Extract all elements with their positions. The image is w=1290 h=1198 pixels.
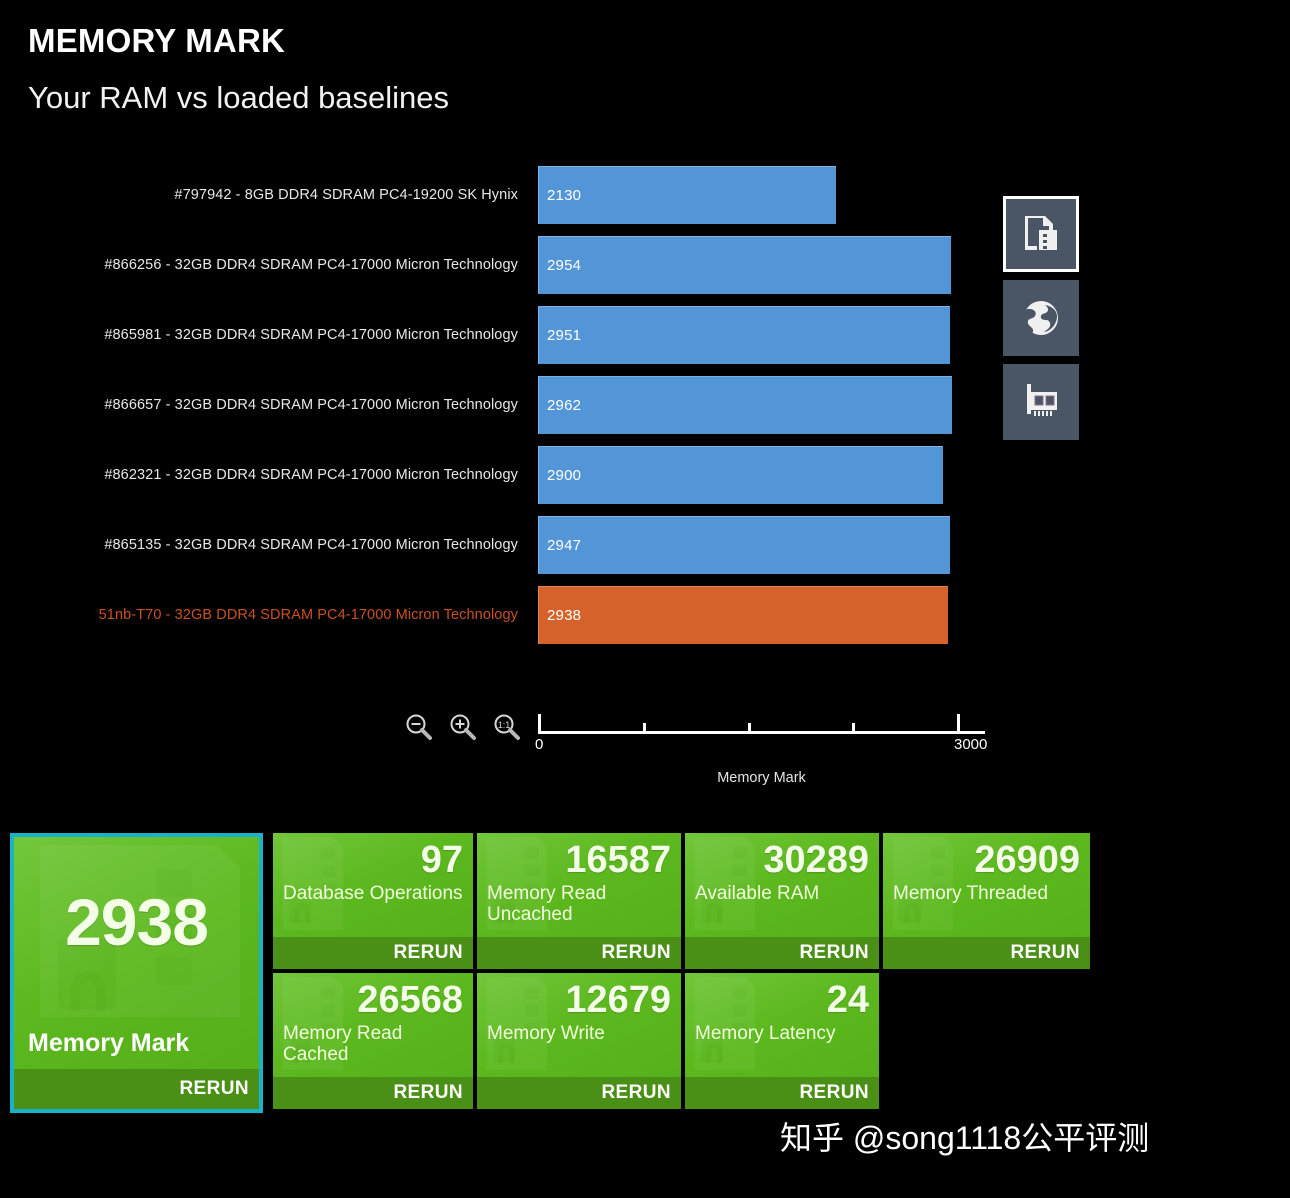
tile-memory-latency[interactable]: 24Memory LatencyRERUN <box>685 973 879 1109</box>
chart-row-label: #866256 - 32GB DDR4 SDRAM PC4-17000 Micr… <box>0 230 518 300</box>
chart-bar[interactable]: 2947 <box>538 516 950 574</box>
tile-label: Memory Read Uncached <box>487 883 671 926</box>
chart-row-label: #865981 - 32GB DDR4 SDRAM PC4-17000 Micr… <box>0 300 518 370</box>
axis-tick <box>852 723 855 732</box>
tile-memory-write[interactable]: 12679Memory WriteRERUN <box>477 973 681 1109</box>
axis-tick <box>748 723 751 732</box>
chart-row-label: 51nb-T70 - 32GB DDR4 SDRAM PC4-17000 Mic… <box>0 580 518 650</box>
tile-value: 24 <box>827 981 869 1019</box>
chart-zoom-controls: 1:1 <box>404 712 522 742</box>
baseline-document-icon[interactable] <box>1003 196 1079 272</box>
tile-value: 26568 <box>357 981 463 1019</box>
page-title: MEMORY MARK <box>28 22 285 60</box>
chart-row[interactable]: 51nb-T70 - 32GB DDR4 SDRAM PC4-17000 Mic… <box>0 580 990 650</box>
chart-row[interactable]: #865135 - 32GB DDR4 SDRAM PC4-17000 Micr… <box>0 510 990 580</box>
tile-label: Database Operations <box>283 883 463 904</box>
author-watermark: 知乎 @song1118公平评测 <box>780 1113 1149 1159</box>
hardware-card-icon[interactable] <box>1003 364 1079 440</box>
tile-label: Memory Write <box>487 1023 671 1044</box>
rerun-button[interactable]: RERUN <box>14 1069 259 1109</box>
axis-title: Memory Mark <box>538 770 985 786</box>
axis-tick <box>538 714 541 732</box>
tile-value: 12679 <box>565 981 671 1019</box>
tile-memory-read-cached[interactable]: 26568Memory Read CachedRERUN <box>273 973 473 1109</box>
chart-row-label: #862321 - 32GB DDR4 SDRAM PC4-17000 Micr… <box>0 440 518 510</box>
tile-memory-threaded[interactable]: 26909Memory ThreadedRERUN <box>883 833 1090 969</box>
rerun-button[interactable]: RERUN <box>273 937 473 969</box>
chart-row-label: #865135 - 32GB DDR4 SDRAM PC4-17000 Micr… <box>0 510 518 580</box>
tile-value: 2938 <box>14 889 259 955</box>
rerun-button[interactable]: RERUN <box>685 937 879 969</box>
axis-tick <box>643 723 646 732</box>
chart-bar[interactable]: 2951 <box>538 306 950 364</box>
chart-bar[interactable]: 2130 <box>538 166 836 224</box>
axis-tick-label: 0 <box>535 736 543 753</box>
rerun-button[interactable]: RERUN <box>477 1077 681 1109</box>
tile-label: Memory Threaded <box>893 883 1080 904</box>
globe-icon[interactable] <box>1003 280 1079 356</box>
score-tiles: 2938 Memory Mark RERUN 97Database Operat… <box>10 833 1090 1113</box>
tile-value: 30289 <box>763 841 869 879</box>
chart-row-label: #797942 - 8GB DDR4 SDRAM PC4-19200 SK Hy… <box>0 160 518 230</box>
chart-row[interactable]: #866256 - 32GB DDR4 SDRAM PC4-17000 Micr… <box>0 230 990 300</box>
rerun-button[interactable]: RERUN <box>883 937 1090 969</box>
chart-row[interactable]: #797942 - 8GB DDR4 SDRAM PC4-19200 SK Hy… <box>0 160 990 230</box>
chart-bar-value: 2951 <box>547 327 581 344</box>
chart-side-toolbar <box>1003 196 1079 448</box>
axis-tick-label: 3000 <box>954 736 987 753</box>
chart-bar-value: 2900 <box>547 467 581 484</box>
rerun-button[interactable]: RERUN <box>273 1077 473 1109</box>
chart-bar-value: 2962 <box>547 397 581 414</box>
tile-label: Memory Latency <box>695 1023 869 1044</box>
axis-line <box>538 731 985 734</box>
chart-bar-value: 2947 <box>547 537 581 554</box>
tile-label: Memory Read Cached <box>283 1023 463 1066</box>
tile-database-operations[interactable]: 97Database OperationsRERUN <box>273 833 473 969</box>
axis-tick <box>957 714 960 732</box>
page-subtitle: Your RAM vs loaded baselines <box>28 80 449 116</box>
chart-row[interactable]: #862321 - 32GB DDR4 SDRAM PC4-17000 Micr… <box>0 440 990 510</box>
chart-bar-value: 2954 <box>547 257 581 274</box>
tile-value: 16587 <box>565 841 671 879</box>
chart-row[interactable]: #865981 - 32GB DDR4 SDRAM PC4-17000 Micr… <box>0 300 990 370</box>
chart-bar[interactable]: 2962 <box>538 376 952 434</box>
chart-bar[interactable]: 2900 <box>538 446 943 504</box>
chart-bar-value: 2130 <box>547 187 581 204</box>
chart-axis: 1:1 03000 Memory Mark <box>0 700 1290 800</box>
chart-row-label: #866657 - 32GB DDR4 SDRAM PC4-17000 Micr… <box>0 370 518 440</box>
tile-label: Memory Mark <box>28 1029 189 1057</box>
chart-bar[interactable]: 2954 <box>538 236 951 294</box>
chart-bar-value: 2938 <box>547 607 581 624</box>
tile-label: Available RAM <box>695 883 869 904</box>
rerun-button[interactable]: RERUN <box>477 937 681 969</box>
zoom-reset-icon[interactable]: 1:1 <box>492 712 522 742</box>
tile-available-ram[interactable]: 30289Available RAMRERUN <box>685 833 879 969</box>
tile-value: 97 <box>421 841 463 879</box>
chart-bar[interactable]: 2938 <box>538 586 948 644</box>
memory-mark-screen: MEMORY MARK Your RAM vs loaded baselines… <box>0 0 1290 1198</box>
svg-text:1:1: 1:1 <box>498 720 511 730</box>
tile-value: 26909 <box>974 841 1080 879</box>
rerun-button[interactable]: RERUN <box>685 1077 879 1109</box>
zoom-in-icon[interactable] <box>448 712 478 742</box>
tile-memory-mark[interactable]: 2938 Memory Mark RERUN <box>10 833 263 1113</box>
tile-memory-read-uncached[interactable]: 16587Memory Read UncachedRERUN <box>477 833 681 969</box>
zoom-out-icon[interactable] <box>404 712 434 742</box>
chart-row[interactable]: #866657 - 32GB DDR4 SDRAM PC4-17000 Micr… <box>0 370 990 440</box>
